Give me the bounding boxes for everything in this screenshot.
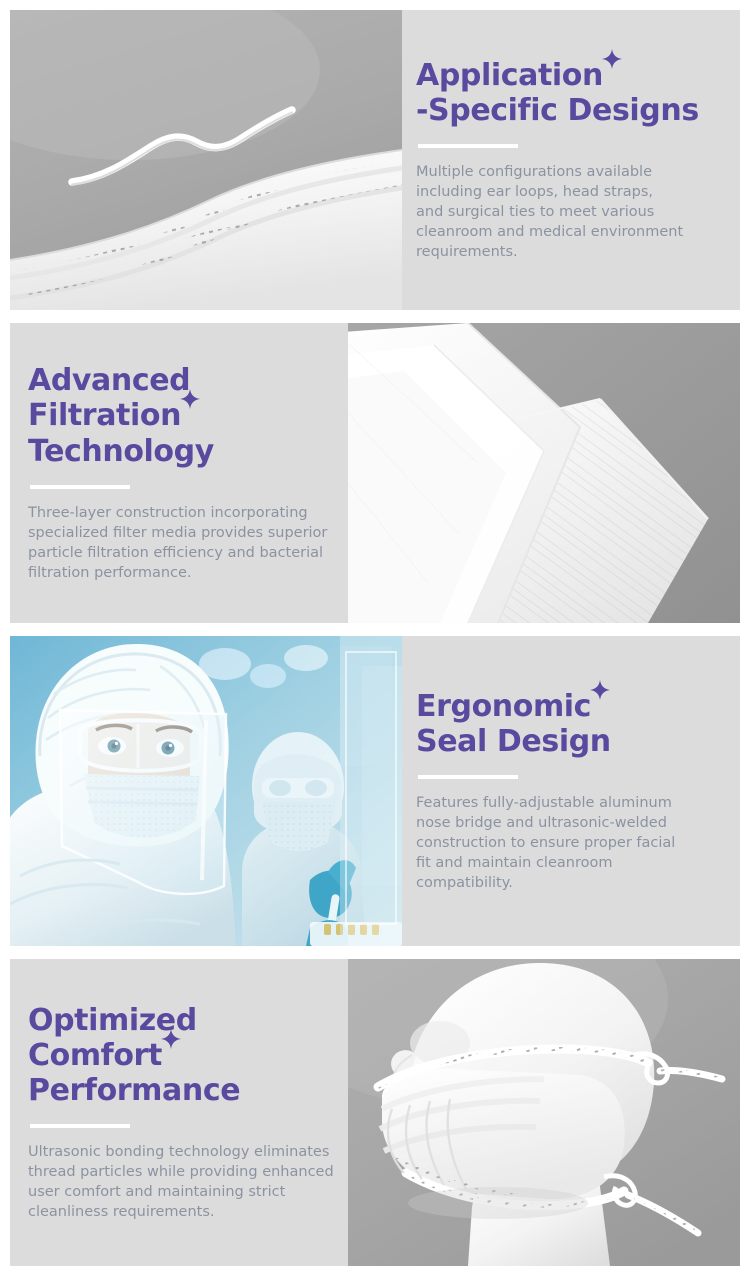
panel-copy-advanced-filtration-technology: Advanced FiltrationTechnology Three-laye… <box>10 323 348 623</box>
mannequin-head-with-tie-on-mask-photo <box>348 959 740 1266</box>
panel-heading: ErgonomicSeal Design <box>416 689 726 759</box>
panel-image-mannequin-mask <box>348 959 740 1266</box>
feature-panel-optimized-comfort-performance: Optimized ComfortPerformance Ultrasonic … <box>10 959 740 1266</box>
sparkle-icon <box>601 48 623 70</box>
panel-body-text: Features fully-adjustable aluminum nose … <box>416 793 716 893</box>
sparkle-icon <box>589 679 611 701</box>
panel-image-cleanroom-technicians <box>10 636 402 946</box>
panel-copy-optimized-comfort-performance: Optimized ComfortPerformance Ultrasonic … <box>10 959 348 1266</box>
panel-heading-line2: Technology <box>28 434 214 469</box>
heading-divider <box>418 775 518 779</box>
panel-heading: Optimized ComfortPerformance <box>28 1003 334 1108</box>
feature-panel-ergonomic-seal-design: ErgonomicSeal Design Features fully-adju… <box>10 636 740 946</box>
panel-heading-line2: Seal Design <box>416 724 611 759</box>
panel-body-text: Three-layer construction incorporating s… <box>28 503 334 583</box>
layered-nonwoven-filter-fabric-photo <box>348 323 740 623</box>
panel-heading-line1: Application <box>416 58 603 93</box>
panel-heading-line2: Performance <box>28 1073 240 1108</box>
feature-panels-page: Application-Specific Designs Multiple co… <box>0 0 750 1285</box>
panel-copy-application-specific-designs: Application-Specific Designs Multiple co… <box>402 10 740 310</box>
panel-heading: Advanced FiltrationTechnology <box>28 363 334 468</box>
panel-image-nose-wire <box>10 10 402 310</box>
panel-heading-line1: Advanced Filtration <box>28 363 190 433</box>
heading-divider <box>418 144 518 148</box>
cleanroom-technicians-photo <box>10 636 402 946</box>
sparkle-icon <box>179 388 201 410</box>
panel-copy-ergonomic-seal-design: ErgonomicSeal Design Features fully-adju… <box>402 636 740 946</box>
panel-image-filter-fabric <box>348 323 740 623</box>
heading-divider <box>30 1124 130 1128</box>
panel-heading-line1: Ergonomic <box>416 689 591 724</box>
feature-panel-advanced-filtration-technology: Advanced FiltrationTechnology Three-laye… <box>10 323 740 623</box>
sparkle-icon <box>160 1028 182 1050</box>
heading-divider <box>30 485 130 489</box>
panel-body-text: Ultrasonic bonding technology eliminates… <box>28 1142 334 1222</box>
feature-panel-application-specific-designs: Application-Specific Designs Multiple co… <box>10 10 740 310</box>
panel-body-text: Multiple configurations available includ… <box>416 162 716 262</box>
panel-heading-line2: -Specific Designs <box>416 93 699 128</box>
panel-heading: Application-Specific Designs <box>416 58 726 128</box>
nose-wire-and-mask-edge-photo <box>10 10 402 310</box>
